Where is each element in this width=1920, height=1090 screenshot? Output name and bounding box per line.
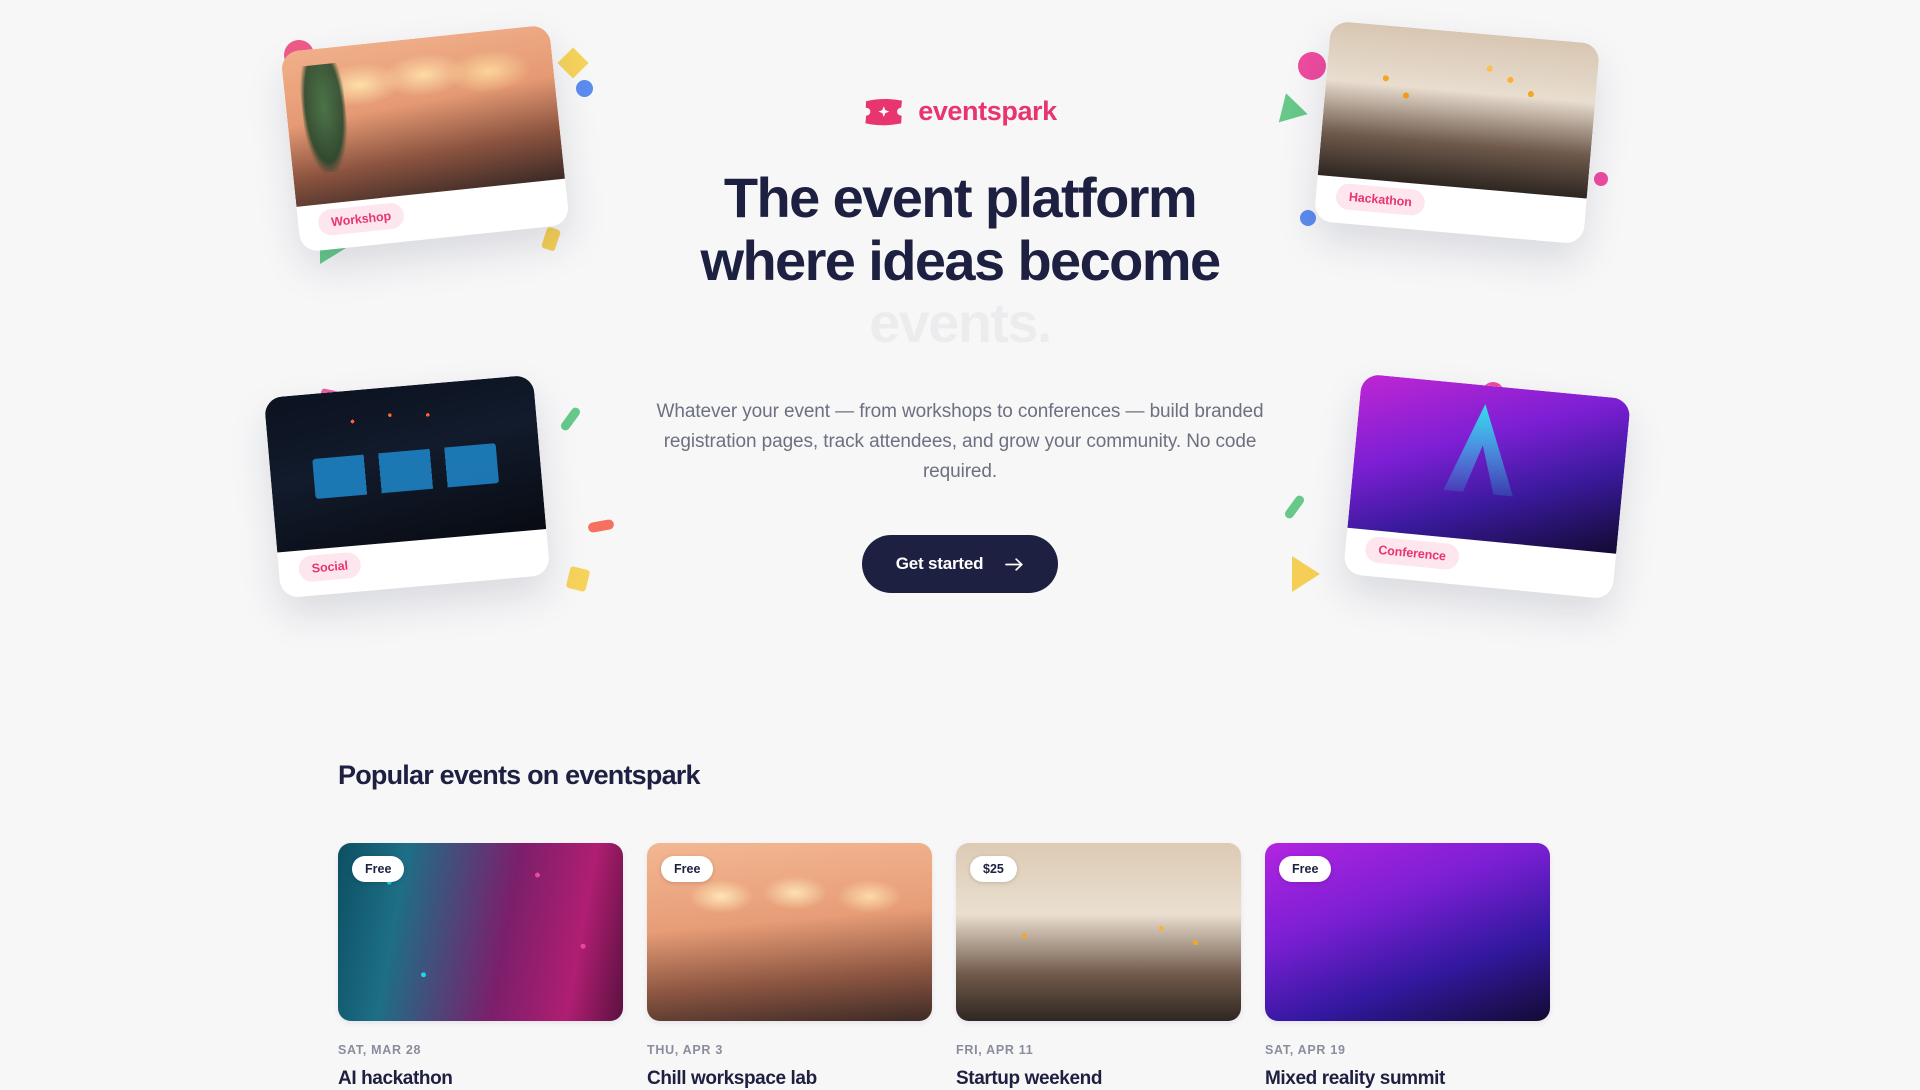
popular-events-section: Popular events on eventspark Free SAT, M… (338, 760, 1588, 1090)
event-price-badge: $25 (970, 856, 1017, 882)
hero-card-badge: Workshop (317, 202, 405, 237)
event-card[interactable]: Free THU, APR 3 Chill workspace lab (647, 843, 932, 1090)
blue-circle-icon (576, 80, 593, 97)
events-grid: Free SAT, MAR 28 AI hackathon Free THU, … (338, 843, 1588, 1090)
hero-card-workshop[interactable]: Workshop (280, 24, 570, 252)
headline-line-3: events. (869, 291, 1051, 354)
hero-section: Workshop Hackathon Social Conference eve… (0, 0, 1920, 700)
event-thumbnail[interactable]: Free (338, 843, 623, 1021)
event-date: THU, APR 3 (647, 1043, 932, 1057)
event-date: FRI, APR 11 (956, 1043, 1241, 1057)
headline-line-1: The event platform (724, 166, 1196, 229)
ticket-sparkle-icon (863, 97, 905, 127)
event-card[interactable]: Free SAT, APR 19 Mixed reality summit (1265, 843, 1550, 1090)
pink-dot-right-icon (1594, 172, 1608, 186)
hero-subheadline: Whatever your event — from workshops to … (610, 397, 1310, 487)
get-started-button[interactable]: Get started (862, 535, 1059, 593)
event-name: Startup weekend (956, 1068, 1241, 1090)
event-price-badge: Free (1279, 856, 1331, 882)
hero-card-badge: Hackathon (1335, 183, 1426, 217)
hackathon-photo (1318, 21, 1600, 199)
workshop-photo (280, 24, 565, 206)
headline-line-2: where ideas become (700, 229, 1219, 292)
page-title: The event platform where ideas become ev… (610, 167, 1310, 355)
cta-container: Get started (610, 535, 1310, 593)
event-card[interactable]: $25 FRI, APR 11 Startup weekend (956, 843, 1241, 1090)
event-card[interactable]: Free SAT, MAR 28 AI hackathon (338, 843, 623, 1090)
green-slash-icon (559, 406, 582, 432)
hero-content: eventspark The event platform where idea… (610, 96, 1310, 593)
event-date: SAT, MAR 28 (338, 1043, 623, 1057)
event-date: SAT, APR 19 (1265, 1043, 1550, 1057)
event-thumbnail[interactable]: Free (1265, 843, 1550, 1021)
brand-name: eventspark (918, 96, 1057, 127)
magenta-circle-icon (1298, 52, 1326, 80)
hero-card-badge: Social (298, 551, 362, 582)
event-price-badge: Free (661, 856, 713, 882)
arrow-right-icon (1005, 557, 1024, 572)
brand-logo[interactable]: eventspark (610, 96, 1310, 127)
get-started-label: Get started (896, 554, 984, 574)
hero-card-conference[interactable]: Conference (1343, 374, 1631, 600)
conference-photo (1347, 374, 1631, 554)
popular-events-title: Popular events on eventspark (338, 760, 1588, 791)
event-thumbnail[interactable]: Free (647, 843, 932, 1021)
yellow-square-icon (566, 566, 591, 592)
hero-card-hackathon[interactable]: Hackathon (1314, 21, 1600, 245)
hero-card-social[interactable]: Social (264, 375, 550, 599)
event-name: Chill workspace lab (647, 1068, 932, 1090)
event-name: AI hackathon (338, 1068, 623, 1090)
hero-card-badge: Conference (1364, 536, 1460, 571)
event-price-badge: Free (352, 856, 404, 882)
event-thumbnail[interactable]: $25 (956, 843, 1241, 1021)
yellow-corner-icon (541, 226, 561, 251)
social-photo (264, 375, 546, 553)
event-name: Mixed reality summit (1265, 1068, 1550, 1090)
yellow-diamond-icon (557, 47, 588, 78)
